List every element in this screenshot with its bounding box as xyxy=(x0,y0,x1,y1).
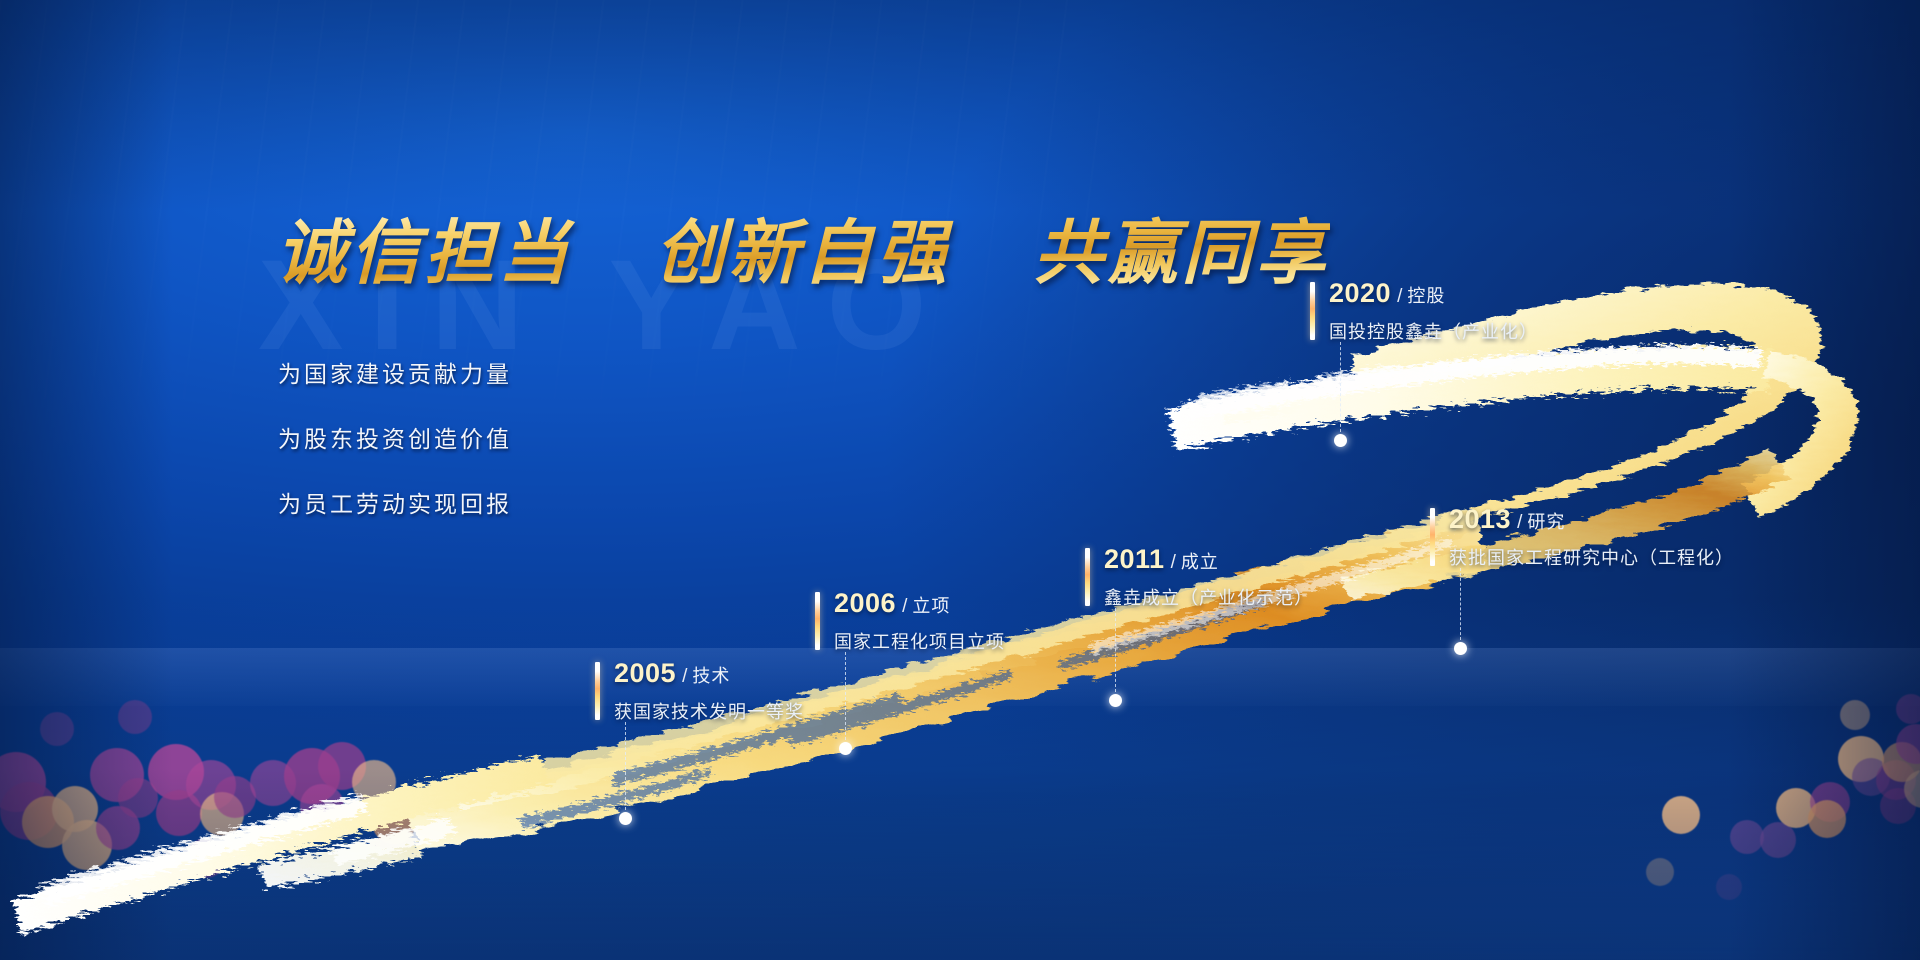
milestone-separator: / xyxy=(1517,512,1522,533)
page-title: 诚信担当 创新自强 共赢同享 xyxy=(276,197,1330,298)
milestone-separator: / xyxy=(1397,286,1402,307)
milestone-description: 国家工程化项目立项 xyxy=(834,628,1005,654)
slogan-item: 为国家建设贡献力量 xyxy=(278,355,512,389)
milestone-dot-marker[interactable] xyxy=(1109,694,1122,707)
milestone-heading: 2011/成立 xyxy=(1104,546,1313,573)
milestone-heading: 2005/技术 xyxy=(614,660,804,687)
headline-part-3: 共赢同享 xyxy=(1034,212,1330,294)
milestone-lead-line xyxy=(1460,568,1461,640)
milestone-text: 2020/控股国投控股鑫垚（产业化） xyxy=(1329,280,1538,344)
milestone-tag: 成立 xyxy=(1181,552,1219,572)
milestone-separator: / xyxy=(682,666,687,687)
milestone-lead-line xyxy=(1115,608,1116,692)
milestone-description: 获国家技术发明一等奖 xyxy=(614,698,804,724)
milestone-dot-marker[interactable] xyxy=(839,742,852,755)
slogan-item: 为股东投资创造价值 xyxy=(278,420,512,454)
milestone-description: 国投控股鑫垚（产业化） xyxy=(1329,318,1538,344)
headline-part-2: 创新自强 xyxy=(655,212,951,294)
milestone-year: 2013 xyxy=(1449,504,1511,534)
milestone-accent-bar xyxy=(815,592,820,650)
milestone-dot-marker[interactable] xyxy=(1454,642,1467,655)
milestone-tag: 控股 xyxy=(1407,286,1445,306)
milestone-heading: 2006/立项 xyxy=(834,590,1005,617)
milestone-heading: 2013/研究 xyxy=(1449,506,1734,533)
milestone-accent-bar xyxy=(595,662,600,720)
milestone-year: 2011 xyxy=(1104,544,1165,574)
milestone-lead-line xyxy=(845,652,846,740)
milestone-heading: 2020/控股 xyxy=(1329,280,1538,307)
milestone-accent-bar xyxy=(1085,548,1090,606)
milestone-year: 2005 xyxy=(614,658,676,688)
milestone-lead-line xyxy=(625,722,626,810)
milestone-text: 2006/立项国家工程化项目立项 xyxy=(834,590,1005,654)
milestone-text: 2011/成立鑫垚成立（产业化示范） xyxy=(1104,546,1313,610)
milestone-accent-bar xyxy=(1310,282,1315,340)
milestone-year: 2020 xyxy=(1329,278,1391,308)
slogan-list: 为国家建设贡献力量 为股东投资创造价值 为员工劳动实现回报 xyxy=(278,355,512,550)
poster-canvas: XIN YAO 诚信担当 创新自强 共赢同享 为国家建设贡献力量 为股东投资创造… xyxy=(0,0,1920,960)
milestone-text: 2013/研究获批国家工程研究中心（工程化） xyxy=(1449,506,1734,570)
milestone-description: 获批国家工程研究中心（工程化） xyxy=(1449,544,1734,570)
slogan-item: 为员工劳动实现回报 xyxy=(278,485,512,519)
milestone-separator: / xyxy=(902,596,907,617)
headline-part-1: 诚信担当 xyxy=(276,212,572,294)
milestone-lead-line xyxy=(1340,342,1341,432)
milestone-tag: 技术 xyxy=(692,666,730,686)
milestone-tag: 立项 xyxy=(912,596,950,616)
milestone-dot-marker[interactable] xyxy=(619,812,632,825)
milestone-accent-bar xyxy=(1430,508,1435,566)
milestone-year: 2006 xyxy=(834,588,896,618)
milestone-dot-marker[interactable] xyxy=(1334,434,1347,447)
milestone-text: 2005/技术获国家技术发明一等奖 xyxy=(614,660,804,724)
milestone-tag: 研究 xyxy=(1527,512,1565,532)
milestone-description: 鑫垚成立（产业化示范） xyxy=(1104,584,1313,610)
milestone-separator: / xyxy=(1171,552,1176,573)
